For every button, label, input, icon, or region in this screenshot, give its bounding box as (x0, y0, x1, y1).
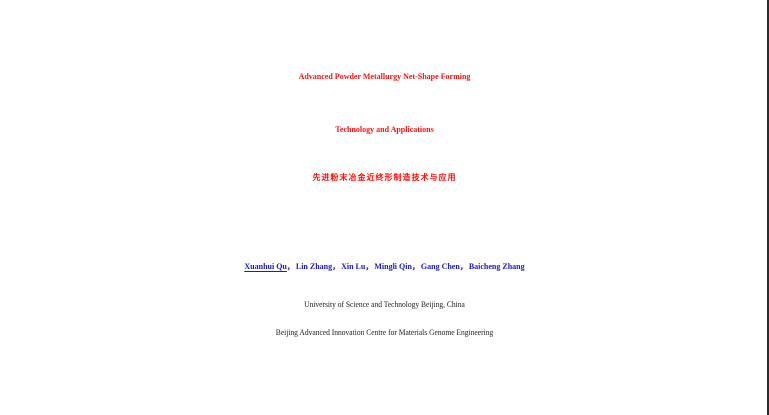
affiliation-line-1: University of Science and Technology Bei… (23, 292, 746, 318)
chinese-subtitle: 先进粉末冶金近终形制造技术与应用 (0, 157, 769, 197)
author-name: Lin Zhang (296, 262, 332, 271)
author-name: Mingli Qin (374, 262, 412, 271)
author-separator: ， (365, 262, 374, 271)
affiliation-line-2: Beijing Advanced Innovation Centre for M… (23, 320, 746, 346)
author-separator: ， (332, 262, 341, 271)
author-name: Gang Chen (421, 262, 460, 271)
author-name: Xuanhui Qu (244, 262, 286, 271)
title-line-1: Advanced Powder Metallurgy Net-Shape For… (0, 50, 769, 103)
author-separator: ， (287, 262, 296, 271)
title-line-2: Technology and Applications (0, 103, 769, 156)
title-block: Advanced Powder Metallurgy Net-Shape For… (0, 50, 769, 156)
title-slide: Advanced Powder Metallurgy Net-Shape For… (0, 0, 769, 415)
author-name: Baicheng Zhang (469, 262, 525, 271)
author-separator: ， (412, 262, 421, 271)
author-list: Xuanhui Qu，Lin Zhang，Xin Lu，Mingli Qin，G… (0, 253, 769, 280)
author-name: Xin Lu (341, 262, 365, 271)
author-separator: ， (460, 262, 469, 271)
